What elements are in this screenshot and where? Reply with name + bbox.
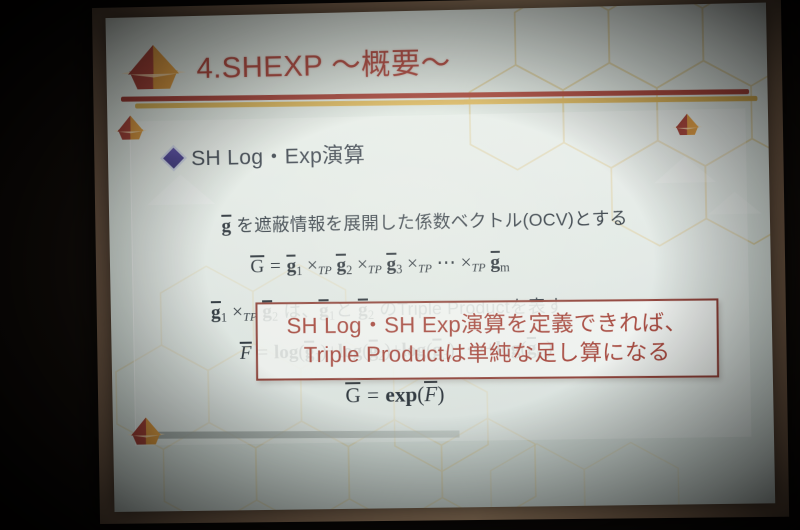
subscript-tp: TP bbox=[418, 262, 432, 275]
pyramid-logo-icon bbox=[124, 44, 183, 89]
pyramid-decoration-icon bbox=[115, 115, 145, 140]
var-g: g bbox=[490, 252, 500, 273]
presentation-slide: 4.SHEXP ～概要～ SH Log・Exp演算 g を遮蔽情 bbox=[105, 3, 775, 512]
times-op: × bbox=[407, 253, 418, 274]
pyramid-decoration-icon bbox=[129, 417, 164, 445]
times-op: × bbox=[232, 302, 243, 323]
subscript-1: 1 bbox=[296, 264, 302, 278]
conclusion-box: SH Log・SH Exp演算を定義できれば、 Triple Productは単… bbox=[255, 298, 719, 380]
gray-accent-bar bbox=[157, 430, 459, 438]
var-G-overline: G bbox=[250, 255, 264, 278]
equals-sign: = bbox=[269, 256, 282, 277]
slide-header: 4.SHEXP ～概要～ bbox=[124, 38, 451, 89]
equation-G-exp: G = exp(F) bbox=[345, 381, 444, 409]
equals-sign: = bbox=[366, 383, 380, 407]
subscript-2: 2 bbox=[346, 263, 352, 277]
var-F-overline: F bbox=[240, 342, 252, 365]
subscript-1: 1 bbox=[221, 310, 228, 324]
var-g: g bbox=[386, 254, 396, 275]
var-g-overline: g bbox=[221, 215, 231, 238]
subscript-tp: TP bbox=[472, 261, 486, 274]
var-g: g bbox=[336, 255, 346, 276]
pyramid-decoration-icon bbox=[674, 113, 701, 135]
projected-slide-surface: 4.SHEXP ～概要～ SH Log・Exp演算 g を遮蔽情 bbox=[105, 3, 775, 512]
subscript-tp: TP bbox=[318, 264, 332, 277]
bullet-heading: SH Log・Exp演算 bbox=[164, 139, 366, 173]
subscript-tp: TP bbox=[368, 263, 382, 276]
room-photo-stage: 4.SHEXP ～概要～ SH Log・Exp演算 g を遮蔽情 bbox=[0, 0, 800, 530]
var-g: g bbox=[286, 256, 296, 277]
var-g: g bbox=[211, 302, 221, 323]
bullet-heading-label: SH Log・Exp演算 bbox=[191, 139, 366, 173]
subscript-3: 3 bbox=[396, 262, 402, 276]
subscript-m: m bbox=[500, 260, 510, 274]
diamond-bullet-icon bbox=[160, 144, 187, 171]
exp-op: exp bbox=[385, 382, 417, 407]
times-op: × bbox=[461, 252, 472, 273]
equation-G-product: G = g1 ×TP g2 ×TP g3 ×TP ⋯ ×TP gm bbox=[250, 251, 510, 280]
conclusion-line-2: Triple Productは単純な足し算になる bbox=[270, 337, 705, 370]
times-op: × bbox=[307, 255, 318, 276]
ellipsis: ⋯ bbox=[436, 253, 456, 274]
rparen: ) bbox=[437, 382, 445, 406]
conclusion-line-1: SH Log・SH Exp演算を定義できれば、 bbox=[270, 308, 705, 341]
var-F-overline: F bbox=[424, 381, 437, 407]
times-op: × bbox=[357, 254, 368, 275]
slide-title: 4.SHEXP ～概要～ bbox=[196, 39, 451, 87]
var-G-overline: G bbox=[345, 382, 361, 408]
